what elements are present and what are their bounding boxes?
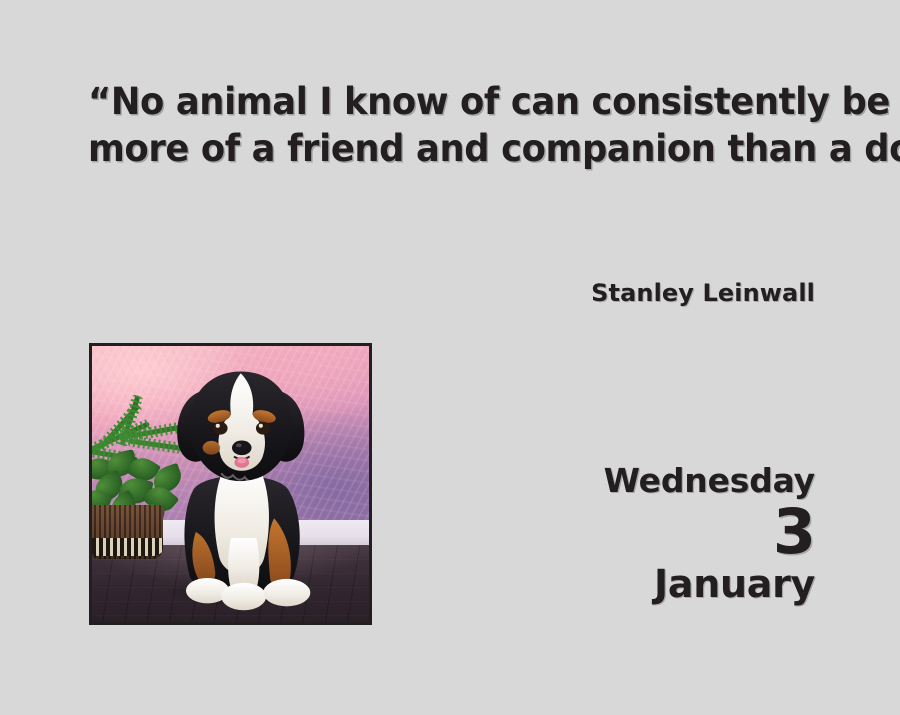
puppy-eye-left bbox=[213, 422, 228, 435]
quote-line-1: “No animal I know of can consistently be bbox=[88, 78, 795, 125]
puppy-eye-highlight-right bbox=[259, 424, 263, 428]
date-day-number: 3 bbox=[604, 500, 815, 564]
puppy-front-leg-center bbox=[228, 538, 259, 589]
puppy-nose-shine bbox=[236, 443, 242, 447]
puppy-nose bbox=[232, 440, 252, 455]
photo-frame bbox=[89, 343, 372, 625]
puppy-tongue-shine bbox=[237, 459, 246, 464]
puppy-eye-right bbox=[256, 422, 271, 435]
puppy-paw-center bbox=[221, 583, 266, 610]
quote-block: “No animal I know of can consistently be… bbox=[88, 78, 828, 172]
calendar-page: “No animal I know of can consistently be… bbox=[0, 0, 900, 715]
quote-line-2: more of a friend and companion than a do… bbox=[88, 125, 795, 172]
puppy-cheek-tan bbox=[203, 441, 221, 455]
puppy-paw-right bbox=[263, 579, 310, 606]
quote-author: Stanley Leinwall bbox=[591, 279, 815, 307]
date-block: Wednesday 3 January bbox=[604, 462, 815, 606]
puppy-photo bbox=[92, 346, 369, 622]
puppy-illustration bbox=[92, 346, 369, 622]
date-month: January bbox=[604, 562, 815, 606]
puppy-eye-highlight-left bbox=[216, 424, 220, 428]
